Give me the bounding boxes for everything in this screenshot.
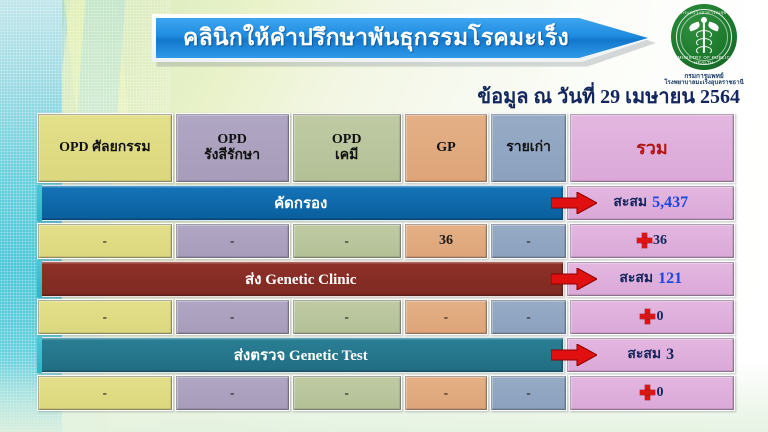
table-header-row: OPD ศัลยกรรม OPDรังสีรักษา OPDเคมี GP รา… bbox=[36, 112, 736, 184]
cell-gtest-opd-chemo: - bbox=[292, 375, 402, 411]
gtest-total-delta: 0 bbox=[640, 385, 663, 401]
column-header-total: รวม bbox=[569, 113, 735, 183]
cell-gclinic-gp: - bbox=[404, 299, 489, 335]
column-header-opd-chemo-label: OPDเคมี bbox=[332, 132, 362, 163]
section-band-row-genetic-test: ส่งตรวจ Genetic Test สะสม 3 bbox=[36, 336, 736, 374]
column-header-existing-cases-label: รายเก่า bbox=[506, 140, 551, 156]
column-header-opd-chemo: OPDเคมี bbox=[292, 113, 402, 183]
band-total-genetic-test-value: สะสม 3 bbox=[627, 346, 674, 364]
table-row-genetic-test-detail: - - - - - 0 bbox=[36, 374, 736, 412]
band-label-screening: คัดกรอง bbox=[37, 185, 564, 221]
cell-gclinic-total: 0 bbox=[569, 299, 735, 335]
cell-screening-existing: - bbox=[490, 223, 567, 259]
cell-gclinic-opd-chemo: - bbox=[292, 299, 402, 335]
band-left-accent bbox=[37, 337, 42, 373]
cell-gtest-total: 0 bbox=[569, 375, 735, 411]
title-banner: คลินิกให้คำปรึกษาพันธุกรรมโรคมะเร็ง bbox=[152, 14, 652, 64]
red-cross-plus-icon bbox=[640, 309, 655, 324]
column-header-total-label: รวม bbox=[636, 138, 668, 158]
red-cross-plus-icon bbox=[637, 233, 652, 248]
column-header-opd-radiotherapy: OPDรังสีรักษา bbox=[175, 113, 290, 183]
band-total-genetic-test: สะสม 3 bbox=[566, 337, 735, 373]
column-header-gp-label: GP bbox=[436, 140, 455, 156]
cell-screening-opd-surgery: - bbox=[37, 223, 173, 259]
column-header-opd-surgery: OPD ศัลยกรรม bbox=[37, 113, 173, 183]
cell-gclinic-opd-surgery: - bbox=[37, 299, 173, 335]
cell-gtest-opd-surgery: - bbox=[37, 375, 173, 411]
cell-screening-opd-chemo: - bbox=[292, 223, 402, 259]
page-title: คลินิกให้คำปรึกษาพันธุกรรมโรคมะเร็ง bbox=[183, 20, 621, 56]
section-band-row-genetic-clinic: ส่ง Genetic Clinic สะสม 121 bbox=[36, 260, 736, 298]
band-label-screening-text: คัดกรอง bbox=[274, 191, 327, 215]
band-total-screening: สะสม 5,437 bbox=[566, 185, 735, 221]
cell-screening-opd-radiotherapy: - bbox=[175, 223, 290, 259]
cell-screening-total: 36 bbox=[569, 223, 735, 259]
cell-gtest-opd-radiotherapy: - bbox=[175, 375, 290, 411]
ministry-seal-icon: กระทรวงสาธารณสุข MINISTRY OF PUBLIC HEAL… bbox=[671, 4, 737, 70]
screening-total-delta: 36 bbox=[637, 233, 667, 249]
column-header-opd-surgery-label: OPD ศัลยกรรม bbox=[59, 140, 150, 156]
column-header-gp: GP bbox=[404, 113, 489, 183]
band-total-genetic-clinic: สะสม 121 bbox=[566, 261, 735, 297]
gclinic-total-delta: 0 bbox=[640, 309, 663, 325]
column-header-existing-cases: รายเก่า bbox=[490, 113, 567, 183]
cell-gclinic-existing: - bbox=[490, 299, 567, 335]
cell-gtest-gp: - bbox=[404, 375, 489, 411]
summary-table: OPD ศัลยกรรม OPDรังสีรักษา OPDเคมี GP รา… bbox=[36, 112, 736, 412]
band-total-genetic-clinic-value: สะสม 121 bbox=[619, 270, 682, 288]
band-label-genetic-clinic-text: ส่ง Genetic Clinic bbox=[245, 267, 356, 291]
section-band-row-screening: คัดกรอง สะสม 5,437 bbox=[36, 184, 736, 222]
band-left-accent bbox=[37, 261, 42, 297]
caduceus-icon bbox=[689, 17, 719, 57]
band-label-genetic-test-text: ส่งตรวจ Genetic Test bbox=[234, 343, 368, 367]
column-header-opd-radiotherapy-label: OPDรังสีรักษา bbox=[204, 132, 260, 163]
slide-canvas: คลินิกให้คำปรึกษาพันธุกรรมโรคมะเร็ง กระท… bbox=[0, 0, 768, 432]
data-as-of-date: ข้อมูล ณ วันที่ 29 เมษายน 2564 bbox=[0, 80, 740, 112]
caduceus-snake-coil-3 bbox=[696, 46, 712, 55]
cell-gtest-existing: - bbox=[490, 375, 567, 411]
title-banner-fill: คลินิกให้คำปรึกษาพันธุกรรมโรคมะเร็ง bbox=[156, 18, 648, 58]
cell-screening-gp: 36 bbox=[404, 223, 489, 259]
table-row-screening-detail: - - - 36 - 36 bbox=[36, 222, 736, 260]
cell-gclinic-opd-radiotherapy: - bbox=[175, 299, 290, 335]
band-label-genetic-test: ส่งตรวจ Genetic Test bbox=[37, 337, 564, 373]
red-cross-plus-icon bbox=[640, 385, 655, 400]
seal-arc-top-text: กระทรวงสาธารณสุข bbox=[671, 9, 737, 16]
band-label-genetic-clinic: ส่ง Genetic Clinic bbox=[37, 261, 564, 297]
band-total-screening-value: สะสม 5,437 bbox=[613, 194, 688, 212]
caduceus-wing-right bbox=[707, 21, 720, 31]
table-row-genetic-clinic-detail: - - - - - 0 bbox=[36, 298, 736, 336]
band-left-accent bbox=[37, 185, 42, 221]
